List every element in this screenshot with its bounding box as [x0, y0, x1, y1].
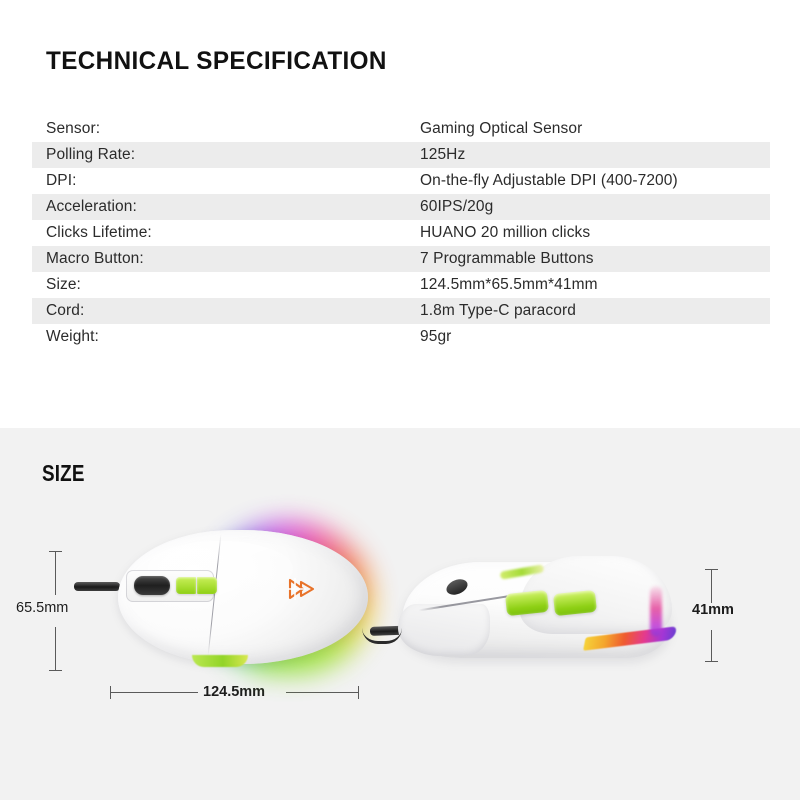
thumb-button-rear [553, 590, 597, 616]
spec-value: 7 Programmable Buttons [420, 250, 770, 268]
technical-specification-section: TECHNICAL SPECIFICATION Sensor: Gaming O… [0, 0, 800, 428]
size-heading: SIZE [42, 460, 85, 487]
spec-key: Clicks Lifetime: [32, 224, 420, 242]
spec-key: Polling Rate: [32, 146, 420, 164]
spec-key: Acceleration: [32, 198, 420, 216]
spec-key: Macro Button: [32, 250, 420, 268]
table-row: Polling Rate: 125Hz [32, 142, 770, 168]
fantech-logo [286, 576, 316, 602]
dpi-button-left [176, 577, 196, 594]
scroll-wheel-icon [134, 576, 170, 595]
spec-value: HUANO 20 million clicks [420, 224, 770, 242]
dimension-line-right [286, 692, 358, 693]
front-led-strip [192, 655, 248, 667]
mouse-front-section [398, 604, 490, 656]
dimension-cap-bottom [49, 670, 62, 671]
cable-top-view [74, 582, 120, 591]
spec-value: 1.8m Type-C paracord [420, 302, 770, 320]
table-row: Clicks Lifetime: HUANO 20 million clicks [32, 220, 770, 246]
dimension-label-height-side-view: 41mm [692, 602, 734, 618]
specification-table: Sensor: Gaming Optical Sensor Polling Ra… [32, 116, 770, 350]
dimension-cap-bottom-right [705, 661, 718, 662]
rgb-glow-rear [650, 586, 662, 636]
table-row: Macro Button: 7 Programmable Buttons [32, 246, 770, 272]
table-row: Sensor: Gaming Optical Sensor [32, 116, 770, 142]
spec-key: Weight: [32, 328, 420, 346]
thumb-button-front [505, 590, 549, 616]
table-row: Acceleration: 60IPS/20g [32, 194, 770, 220]
table-row: Cord: 1.8m Type-C paracord [32, 298, 770, 324]
dimension-line-lower-right [711, 630, 712, 662]
spec-key: DPI: [32, 172, 420, 190]
spec-value: 95gr [420, 328, 770, 346]
spec-key: Cord: [32, 302, 420, 320]
dimension-line-upper-right [711, 569, 712, 603]
product-spec-page: TECHNICAL SPECIFICATION Sensor: Gaming O… [0, 0, 800, 800]
spec-value: 60IPS/20g [420, 198, 770, 216]
mouse-side-view [388, 548, 678, 674]
spec-value: Gaming Optical Sensor [420, 120, 770, 138]
dpi-button-right [197, 577, 217, 594]
table-row: DPI: On-the-fly Adjustable DPI (400-7200… [32, 168, 770, 194]
spec-key: Sensor: [32, 120, 420, 138]
mouse-top-view [96, 516, 366, 676]
spec-value: 125Hz [420, 146, 770, 164]
dimension-line-left [110, 692, 198, 693]
spec-key: Size: [32, 276, 420, 294]
dimension-line-lower [55, 627, 56, 671]
spec-value: 124.5mm*65.5mm*41mm [420, 276, 770, 294]
table-row: Weight: 95gr [32, 324, 770, 350]
dimension-label-height-top-view: 65.5mm [16, 600, 68, 616]
dimension-line-upper [55, 551, 56, 595]
dimension-cap-right [358, 686, 359, 699]
page-title: TECHNICAL SPECIFICATION [46, 47, 387, 76]
spec-value: On-the-fly Adjustable DPI (400-7200) [420, 172, 770, 190]
dimension-label-length-top-view: 124.5mm [203, 684, 265, 700]
table-row: Size: 124.5mm*65.5mm*41mm [32, 272, 770, 298]
